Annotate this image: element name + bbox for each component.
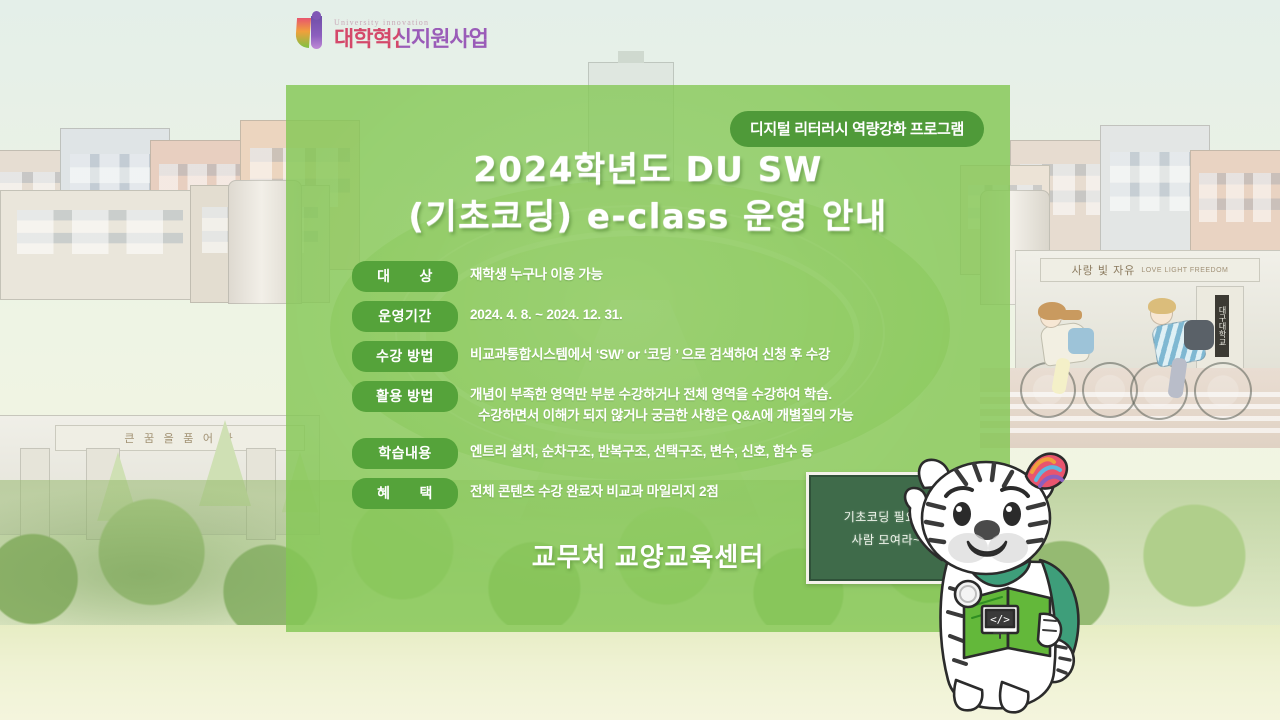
cyclist-backpack [1068,328,1094,354]
title-line-2: (기초코딩) e-class 운영 안내 [286,194,1010,241]
gate-pillar [20,448,50,540]
info-value-text: 엔트리 설치, 순차구조, 반복구조, 선택구조, 변수, 신호, 함수 등 [470,444,813,459]
tiger-eye-highlight [1006,506,1012,512]
info-label-period: 운영기간 [352,301,458,332]
tiger-muzzle-left [948,533,988,563]
tiger-eye-right [1003,502,1021,526]
campus-building [150,140,255,270]
logo-dot [312,11,321,20]
left-gate-sign-text: 큰 꿈 을 품 어 라 [124,430,235,446]
campus-building [1100,125,1210,273]
info-row: 대 상 재학생 누구나 이용 가능 [352,261,952,292]
logo-u-left-stroke [295,18,311,48]
info-label-benefit: 혜 택 [352,478,458,509]
right-gate-sign-english: LOVE LIGHT FREEDOM [1141,267,1228,274]
info-value-enroll-method: 비교과통합시스템에서 ‘SW’ or ‘코딩 ’ 으로 검색하여 신청 후 수강 [470,341,952,366]
u-logo-mark-icon [296,16,328,52]
gate-pillar [246,448,276,540]
page-title: 2024학년도 DU SW (기초코딩) e-class 운영 안내 [286,147,1010,241]
campus-building [60,128,170,270]
tiger-badge [955,581,981,607]
campus-building [0,150,110,270]
logo-u-right-stroke [311,16,322,49]
campus-building [1010,140,1130,270]
cyclist-backpack [1184,320,1214,350]
cyclist-hair [1148,298,1176,314]
campus-building [1190,150,1280,275]
right-gate-beam: 사랑 빛 자유 LOVE LIGHT FREEDOM [1040,258,1260,282]
tiger-eye-highlight [956,506,962,512]
info-label-enroll-method: 수강 방법 [352,341,458,372]
tiger-mascot: </> [890,442,1120,720]
logo-text-block: University innovation 대학혁신지원사업 [334,18,488,50]
title-line-1: 2024학년도 DU SW [473,150,822,190]
bicycle-wheel [1194,362,1252,420]
logo-korean-text: 대학혁신지원사업 [334,28,488,50]
info-value-period: 2024. 4. 8. ~ 2024. 12. 31. [470,301,952,326]
campus-building [0,190,200,300]
program-badge: 디지털 리터러시 역량강화 프로그램 [730,111,984,147]
info-row: 운영기간 2024. 4. 8. ~ 2024. 12. 31. [352,301,952,332]
tiger-eye-left [953,502,971,526]
university-innovation-logo: University innovation 대학혁신지원사업 [296,16,488,52]
info-value-usage-method: 개념이 부족한 영역만 부분 수강하거나 전체 영역을 수강하여 학습. 수강하… [470,381,952,427]
tiger-muzzle-right [988,533,1028,563]
left-gate-beam: 큰 꿈 을 품 어 라 [55,425,305,451]
gate-pillar [86,448,120,540]
info-value-text: 재학생 누구나 이용 가능 [470,267,603,282]
info-value-curriculum: 엔트리 설치, 순차구조, 반복구조, 선택구조, 변수, 신호, 함수 등 [470,438,952,463]
book-code-glyph: </> [990,613,1010,626]
info-value-text-line2: 수강하면서 이해가 되지 않거나 궁금한 사항은 Q&A에 개별질의 가능 [478,406,952,427]
info-row: 활용 방법 개념이 부족한 영역만 부분 수강하거나 전체 영역을 수강하여 학… [352,381,952,427]
info-value-text: 전체 콘텐츠 수강 완료자 비교과 마일리지 2점 [470,484,719,499]
right-gate-sign-korean: 사랑 빛 자유 [1072,262,1136,278]
info-value-target: 재학생 누구나 이용 가능 [470,261,952,286]
info-row: 학습내용 엔트리 설치, 순차구조, 반복구조, 선택구조, 변수, 신호, 함… [352,438,952,469]
info-row: 수강 방법 비교과통합시스템에서 ‘SW’ or ‘코딩 ’ 으로 검색하여 신… [352,341,952,372]
cyclist-ponytail [1060,310,1082,320]
info-label-usage-method: 활용 방법 [352,381,458,412]
left-gate-wall [0,415,320,535]
poster-root: 큰 꿈 을 품 어 라 사랑 빛 자유 LOVE LIGHT FREEDOM 대… [0,0,1280,720]
info-label-curriculum: 학습내용 [352,438,458,469]
info-value-text: 비교과통합시스템에서 ‘SW’ or ‘코딩 ’ 으로 검색하여 신청 후 수강 [470,347,830,362]
info-value-text: 2024. 4. 8. ~ 2024. 12. 31. [470,307,623,322]
right-gate-name-plate: 대구대학교 [1215,295,1229,357]
info-value-text: 개념이 부족한 영역만 부분 수강하거나 전체 영역을 수강하여 학습. [470,387,832,402]
info-label-target: 대 상 [352,261,458,292]
